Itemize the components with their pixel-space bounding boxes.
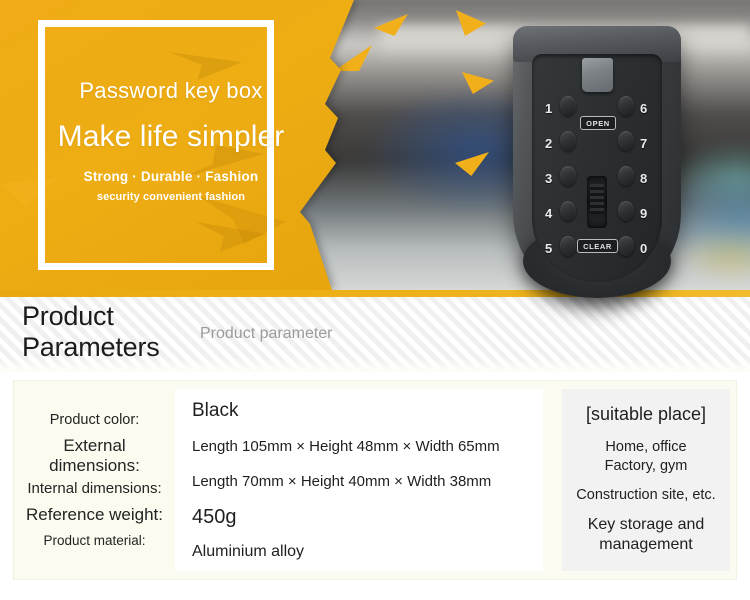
- parameter-value: Length 105mm × Height 48mm × Width 65mm: [175, 438, 543, 455]
- keypad-button-8[interactable]: [618, 166, 634, 186]
- hero-title-small: Password key box: [46, 78, 296, 104]
- parameter-value-column: Black Length 105mm × Height 48mm × Width…: [175, 389, 543, 571]
- parameter-label-column: Product color: External dimensions: Inte…: [14, 381, 175, 579]
- keypad-digit-1[interactable]: 1: [545, 102, 552, 115]
- keypad-button-4[interactable]: [560, 201, 576, 221]
- section-subtitle: Product parameter: [200, 325, 333, 343]
- parameter-label: External dimensions:: [14, 436, 175, 475]
- product-image-key-safe: 1 2 3 4 5 6 7 8 9 0 OPEN CLEAR: [505, 8, 689, 308]
- keypad-button-3[interactable]: [560, 166, 576, 186]
- keypad-digit-4[interactable]: 4: [545, 207, 552, 220]
- page-title-line1: Product: [22, 301, 160, 332]
- keypad-button-7[interactable]: [618, 131, 634, 151]
- parameter-value: Aluminium alloy: [175, 543, 543, 561]
- keypad-digit-9[interactable]: 9: [640, 207, 647, 220]
- keypad-digit-3[interactable]: 3: [545, 172, 552, 185]
- suitable-place-title: [suitable place]: [586, 404, 706, 425]
- parameter-label: Reference weight:: [14, 505, 175, 524]
- keypad-button-2[interactable]: [560, 131, 576, 151]
- suitable-place-line-4: Key storage and management: [562, 515, 730, 557]
- keypad-button-6[interactable]: [618, 96, 634, 116]
- suitable-place-panel: [suitable place] Home, office Factory, g…: [562, 389, 730, 571]
- clear-button[interactable]: CLEAR: [577, 239, 618, 253]
- keypad-button-1[interactable]: [560, 96, 576, 116]
- keypad-button-9[interactable]: [618, 201, 634, 221]
- slider-control[interactable]: [587, 176, 607, 228]
- parameter-label: Internal dimensions:: [14, 480, 175, 497]
- open-button[interactable]: OPEN: [580, 116, 616, 130]
- hero-subtitle-secondary: security convenient fashion: [46, 191, 296, 203]
- page-title: Product Parameters: [22, 301, 160, 362]
- hero-title-large: Make life simpler: [46, 120, 296, 155]
- keypad-digit-7[interactable]: 7: [640, 137, 647, 150]
- parameter-value: 450g: [175, 506, 543, 529]
- keypad: 1 2 3 4 5 6 7 8 9 0 OPEN CLEAR: [532, 54, 662, 282]
- hero-subtitle: Strong · Durable · Fashion: [46, 169, 296, 184]
- keypad-digit-0[interactable]: 0: [640, 242, 647, 255]
- parameter-label: Product material:: [14, 533, 175, 548]
- band-fade: [0, 358, 750, 372]
- parameter-label: Product color:: [14, 412, 175, 429]
- keypad-digit-8[interactable]: 8: [640, 172, 647, 185]
- keypad-button-0[interactable]: [618, 236, 634, 256]
- suitable-place-line-2: Factory, gym: [605, 457, 688, 477]
- keypad-digit-5[interactable]: 5: [545, 242, 552, 255]
- keypad-digit-6[interactable]: 6: [640, 102, 647, 115]
- parameter-value: Length 70mm × Height 40mm × Width 38mm: [175, 473, 543, 490]
- keypad-button-5[interactable]: [560, 236, 576, 256]
- suitable-place-line-3: Construction site, etc.: [576, 486, 715, 506]
- parameters-table: Product color: External dimensions: Inte…: [13, 380, 737, 580]
- hero-text-block: Password key box Make life simpler Stron…: [46, 78, 296, 203]
- suitable-place-line-1: Home, office: [605, 438, 686, 458]
- product-detail-page: Password key box Make life simpler Stron…: [0, 0, 750, 600]
- keypad-digit-2[interactable]: 2: [545, 137, 552, 150]
- parameter-value: Black: [175, 400, 543, 422]
